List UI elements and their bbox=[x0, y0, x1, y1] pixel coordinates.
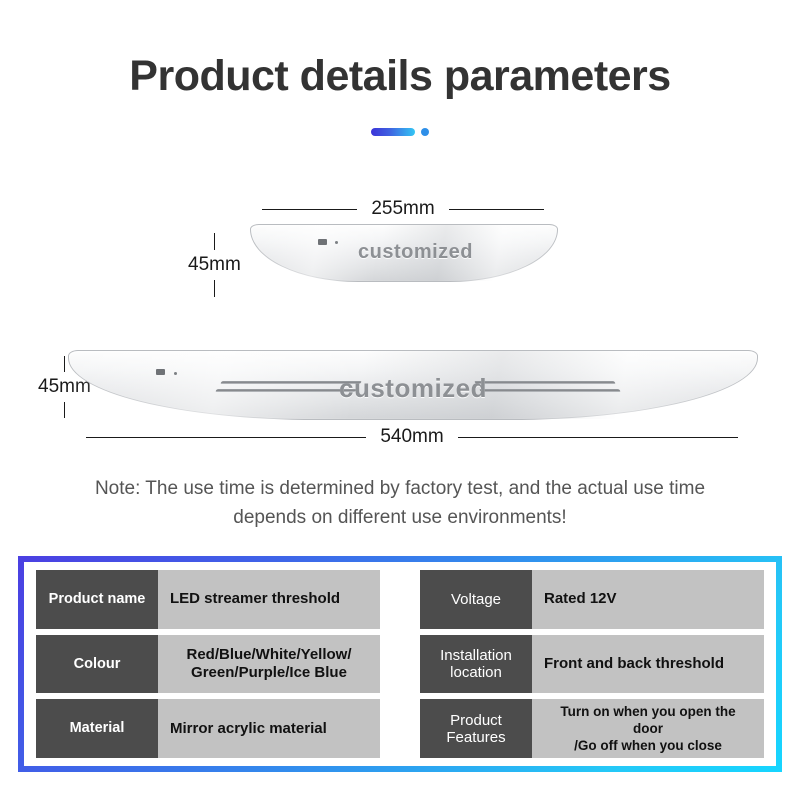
threshold-plate-small: customized bbox=[250, 224, 558, 282]
plate-customized-text: customized bbox=[358, 241, 473, 264]
plate-groove-line bbox=[479, 389, 621, 392]
dimension-width-large: 540mm bbox=[68, 426, 756, 448]
dimension-line-segment bbox=[214, 280, 215, 297]
dimension-line-segment bbox=[64, 356, 65, 372]
spec-key: Material bbox=[36, 699, 158, 758]
spec-value: Rated 12V bbox=[532, 570, 764, 629]
sensor-rect-icon bbox=[318, 239, 327, 245]
spec-key: ProductFeatures bbox=[420, 699, 532, 758]
dimension-height-label: 45mm bbox=[188, 254, 241, 276]
page-title: Product details parameters bbox=[0, 52, 800, 101]
sensor-rect-icon bbox=[156, 369, 165, 375]
title-divider bbox=[0, 128, 800, 136]
table-row: Installationlocation Front and back thre… bbox=[420, 635, 764, 694]
spec-key: Colour bbox=[36, 635, 158, 694]
spec-value: Red/Blue/White/Yellow/Green/Purple/Ice B… bbox=[158, 635, 380, 694]
product-figure-small: 255mm 45mm customized bbox=[0, 196, 800, 316]
divider-dot-icon bbox=[421, 128, 429, 136]
sensor-dot-icon bbox=[174, 372, 177, 375]
usage-note-line-1: Note: The use time is determined by fact… bbox=[0, 474, 800, 503]
table-row: ProductFeatures Turn on when you open th… bbox=[420, 699, 764, 758]
product-figure-large: 45mm customized 540mm bbox=[0, 336, 800, 446]
plate-customized-text: customized bbox=[339, 373, 487, 404]
plate-groove-line bbox=[474, 381, 616, 384]
spec-value: Mirror acrylic material bbox=[158, 699, 380, 758]
table-row: Colour Red/Blue/White/Yellow/Green/Purpl… bbox=[36, 635, 380, 694]
usage-note: Note: The use time is determined by fact… bbox=[0, 474, 800, 532]
dimension-line-segment bbox=[86, 437, 366, 438]
spec-value: Turn on when you open the door/Go off wh… bbox=[532, 699, 764, 758]
spec-table-frame: Product name LED streamer threshold Colo… bbox=[18, 556, 782, 772]
dimension-line-segment bbox=[214, 233, 215, 250]
spec-key: Product name bbox=[36, 570, 158, 629]
dimension-height-small: 45mm bbox=[188, 226, 241, 304]
spec-table: Product name LED streamer threshold Colo… bbox=[24, 562, 776, 766]
spec-key: Voltage bbox=[420, 570, 532, 629]
dimension-width-small: 255mm bbox=[250, 198, 556, 220]
dimension-width-label: 255mm bbox=[371, 198, 434, 220]
spec-column-left: Product name LED streamer threshold Colo… bbox=[36, 570, 380, 758]
dimension-line-segment bbox=[262, 209, 357, 210]
usage-note-line-2: depends on different use environments! bbox=[0, 503, 800, 532]
table-row: Material Mirror acrylic material bbox=[36, 699, 380, 758]
spec-column-right: Voltage Rated 12V Installationlocation F… bbox=[420, 570, 764, 758]
dimension-line-segment bbox=[64, 402, 65, 418]
sensor-dot-icon bbox=[335, 241, 338, 244]
table-row: Voltage Rated 12V bbox=[420, 570, 764, 629]
spec-value: Front and back threshold bbox=[532, 635, 764, 694]
table-row: Product name LED streamer threshold bbox=[36, 570, 380, 629]
plate-groove-line bbox=[215, 389, 357, 392]
spec-key: Installationlocation bbox=[420, 635, 532, 694]
dimension-line-segment bbox=[449, 209, 544, 210]
spec-value: LED streamer threshold bbox=[158, 570, 380, 629]
dimension-line-segment bbox=[458, 437, 738, 438]
threshold-plate-large: customized bbox=[68, 350, 758, 420]
dimension-width-label: 540mm bbox=[380, 426, 443, 448]
divider-bar-icon bbox=[371, 128, 415, 136]
